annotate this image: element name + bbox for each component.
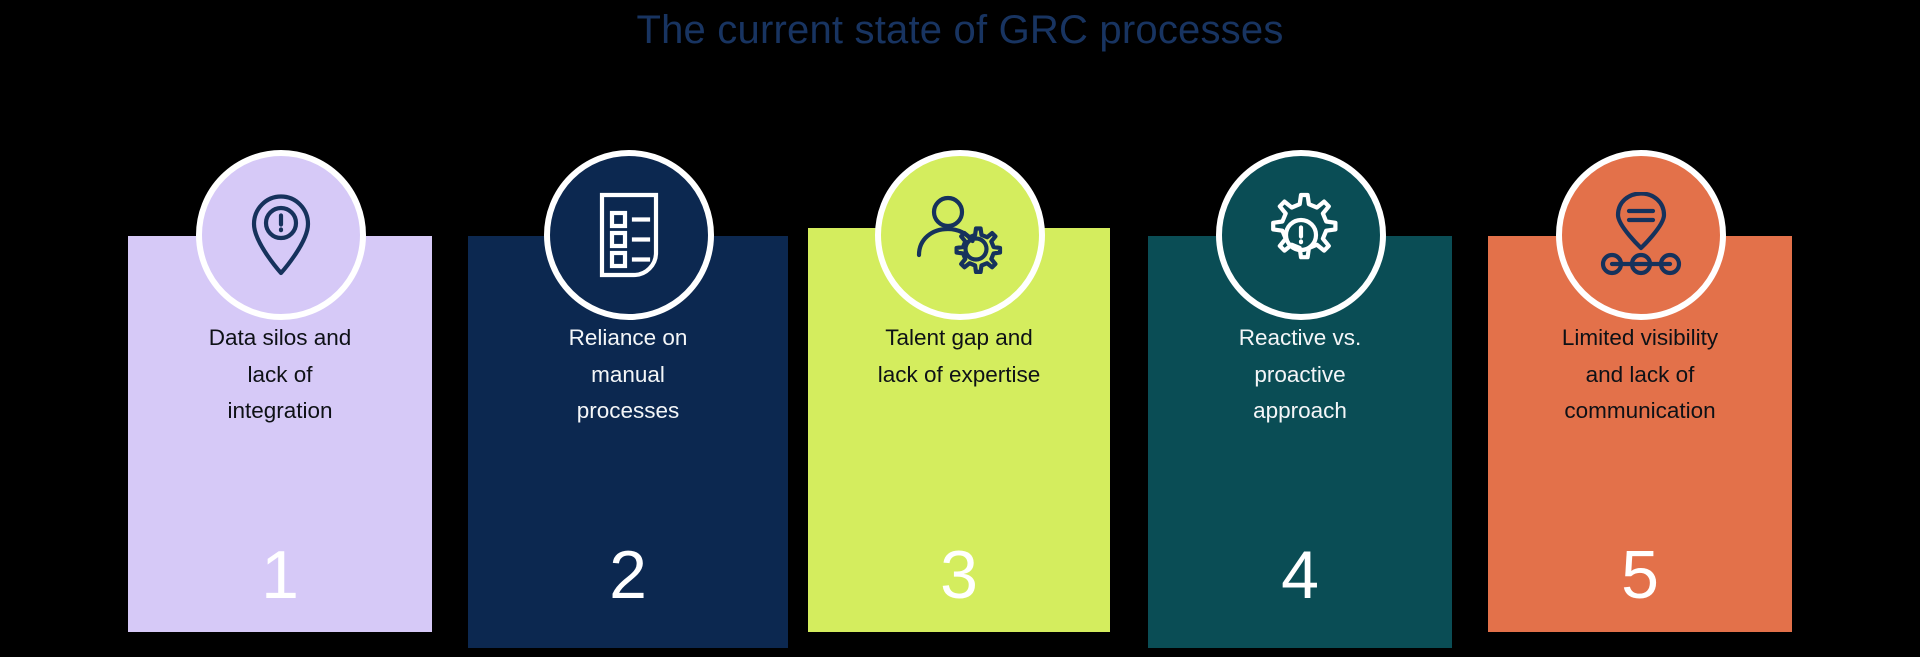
- pin-timeline-icon: [1598, 192, 1684, 278]
- card-1-number: 1: [128, 541, 432, 609]
- card-4-number: 4: [1148, 541, 1452, 609]
- card-1-label: Data silos and lack of integration: [128, 320, 432, 430]
- card-3-label: Talent gap and lack of expertise: [808, 320, 1110, 393]
- card-2-label-line-3: processes: [478, 393, 778, 430]
- card-4-label: Reactive vs. proactive approach: [1148, 320, 1452, 430]
- card-3-label-line-1: Talent gap and: [818, 320, 1100, 357]
- card-1-label-line-1: Data silos and: [138, 320, 422, 357]
- checklist-document-icon: [590, 191, 668, 279]
- infographic-slide: The current state of GRC processes Data …: [0, 0, 1920, 657]
- card-3-badge: [875, 150, 1045, 320]
- cards-row: Data silos and lack of integration 1: [0, 0, 1920, 657]
- card-3[interactable]: Talent gap and lack of expertise 3: [808, 228, 1110, 632]
- card-5-badge: [1556, 150, 1726, 320]
- card-3-label-line-2: lack of expertise: [818, 357, 1100, 394]
- user-gear-icon: [915, 195, 1005, 275]
- card-1[interactable]: Data silos and lack of integration 1: [128, 236, 432, 632]
- card-5-number: 5: [1488, 541, 1792, 609]
- card-5-label-line-2: and lack of: [1498, 357, 1782, 394]
- card-1-badge: [196, 150, 366, 320]
- card-4-label-line-3: approach: [1158, 393, 1442, 430]
- card-2-label: Reliance on manual processes: [468, 320, 788, 430]
- gear-alert-icon: [1257, 191, 1345, 279]
- card-2-label-line-1: Reliance on: [478, 320, 778, 357]
- card-5-label: Limited visibility and lack of communica…: [1488, 320, 1792, 430]
- card-2-label-line-2: manual: [478, 357, 778, 394]
- card-1-label-line-3: integration: [138, 393, 422, 430]
- card-5-label-line-3: communication: [1498, 393, 1782, 430]
- card-2[interactable]: Reliance on manual processes 2: [468, 236, 788, 648]
- card-2-badge: [544, 150, 714, 320]
- card-4-label-line-2: proactive: [1158, 357, 1442, 394]
- location-pin-alert-icon: [244, 193, 318, 277]
- card-4-label-line-1: Reactive vs.: [1158, 320, 1442, 357]
- card-4[interactable]: Reactive vs. proactive approach 4: [1148, 236, 1452, 648]
- card-2-number: 2: [468, 541, 788, 609]
- card-1-label-line-2: lack of: [138, 357, 422, 394]
- card-5-label-line-1: Limited visibility: [1498, 320, 1782, 357]
- card-3-number: 3: [808, 541, 1110, 609]
- card-5[interactable]: Limited visibility and lack of communica…: [1488, 236, 1792, 632]
- card-4-badge: [1216, 150, 1386, 320]
